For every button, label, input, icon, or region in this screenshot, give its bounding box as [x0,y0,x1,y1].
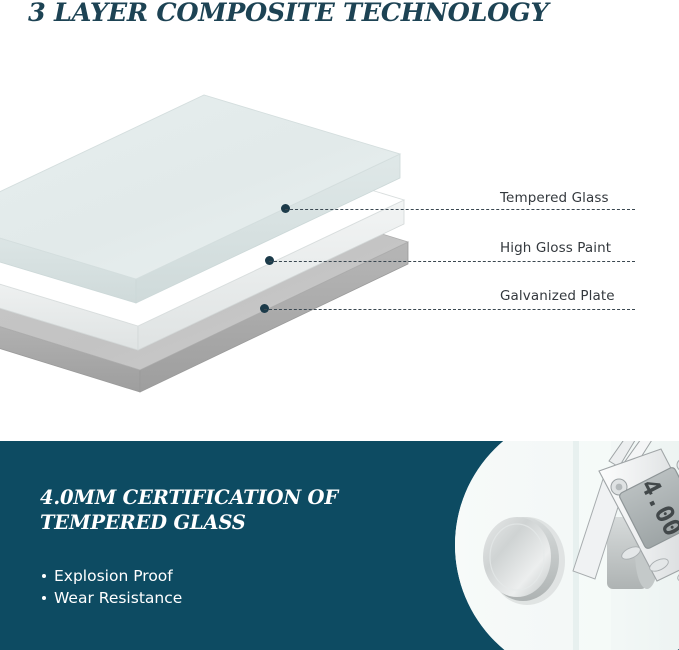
product-infographic: 3 LAYER COMPOSITE TECHNOLOGY [0,0,679,650]
list-item: Explosion Proof [40,565,182,587]
callout-label-galvanized-plate: Galvanized Plate [500,288,615,304]
callout-leader-line-tempered-glass [285,209,635,210]
callout-label-high-gloss-paint: High Gloss Paint [500,240,611,256]
feature-bullet-list: Explosion Proof Wear Resistance [40,565,182,609]
layer-technology-section: 3 LAYER COMPOSITE TECHNOLOGY [0,0,679,440]
callout-leader-line-galvanized-plate [264,309,635,310]
callout-label-tempered-glass: Tempered Glass [500,190,609,206]
certification-panel: 4.0MM CERTIFICATION OF TEMPERED GLASS Ex… [0,441,679,650]
page-title: 3 LAYER COMPOSITE TECHNOLOGY [28,0,548,27]
certification-heading: 4.0MM CERTIFICATION OF TEMPERED GLASS [40,485,380,535]
callout-leader-line-high-gloss-paint [269,261,635,262]
caliper-photo-illustration: 4.00 [455,441,679,650]
caliper-photo-circle: 4.00 [455,441,679,650]
exploded-layer-stack [0,60,500,420]
list-item: Wear Resistance [40,587,182,609]
